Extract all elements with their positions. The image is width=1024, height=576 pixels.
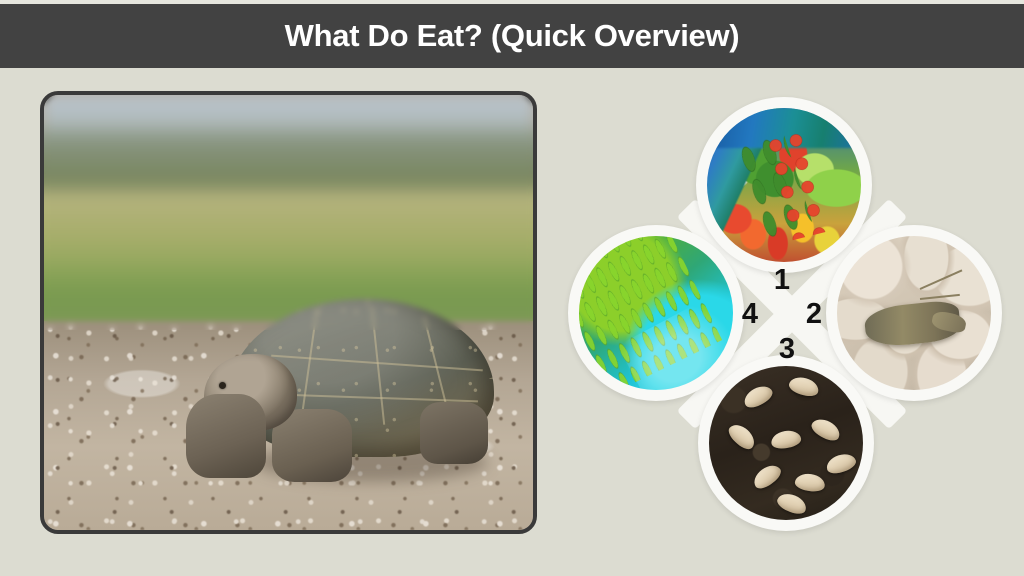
tortoise-rear-leg [420, 402, 488, 464]
vegetables-image [707, 108, 861, 262]
tortoise-photo-image [44, 95, 533, 530]
slide-root: What Do Eat? (Quick Overview) [0, 0, 1024, 576]
tortoise-figure [186, 299, 494, 482]
collage-number-1: 1 [767, 266, 797, 295]
algae-image [579, 236, 733, 390]
crayfish-antenna [920, 270, 963, 291]
crayfish-antenna [920, 293, 960, 299]
crayfish-circle[interactable] [826, 225, 1002, 401]
grub [824, 451, 858, 476]
grub [808, 415, 842, 444]
grub [775, 490, 809, 517]
collage-number-2: 2 [799, 300, 829, 329]
algae-circle[interactable] [568, 225, 744, 401]
grub [787, 375, 821, 400]
header-bar: What Do Eat? (Quick Overview) [0, 4, 1024, 68]
tortoise-photo [40, 91, 537, 534]
tortoise-front-leg [186, 394, 266, 478]
grub [750, 460, 784, 491]
grub [726, 420, 760, 453]
vegetables-circle[interactable] [696, 97, 872, 273]
grub [769, 428, 801, 450]
collage-number-3: 3 [772, 335, 802, 364]
collage-number-4: 4 [735, 300, 765, 329]
grub [794, 472, 826, 493]
tortoise-eye [219, 382, 226, 389]
page-title: What Do Eat? (Quick Overview) [285, 18, 740, 54]
crayfish-image [837, 236, 991, 390]
food-collage: 1 2 3 4 [560, 88, 1024, 540]
grub [741, 381, 775, 410]
